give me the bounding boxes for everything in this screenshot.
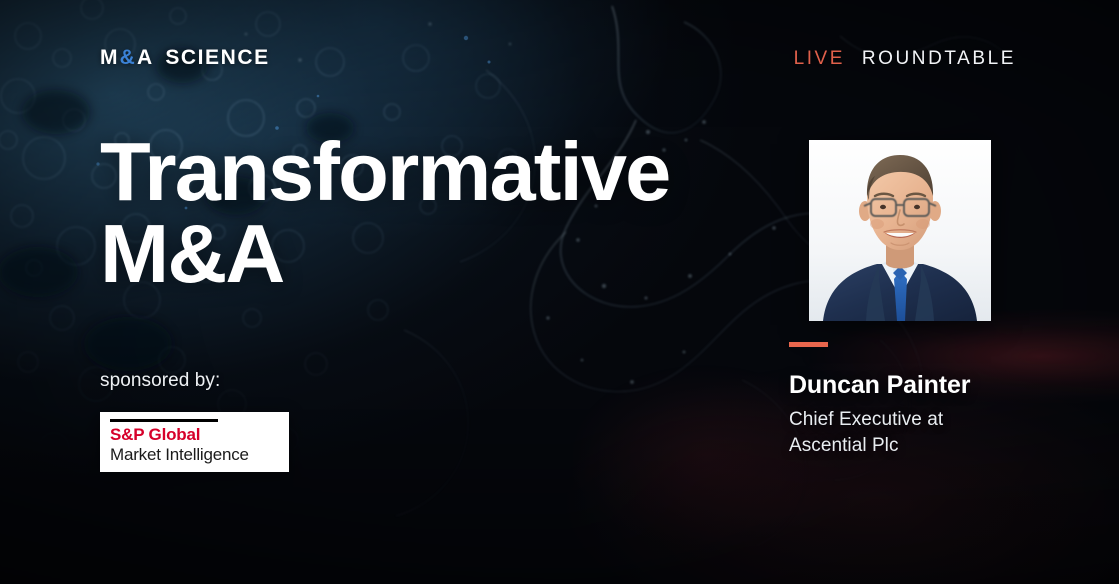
- speaker-accent-bar: [789, 342, 828, 347]
- speaker-title: Chief Executive at Ascential Plc: [789, 407, 1049, 458]
- headline-line-2: M&A: [100, 213, 720, 295]
- speaker-info: Duncan Painter Chief Executive at Ascent…: [789, 371, 1049, 458]
- speaker-title-line-2: Ascential Plc: [789, 433, 1049, 459]
- sponsor-logo-rule: [110, 419, 218, 422]
- speaker-headshot: [809, 140, 991, 321]
- headline-line-1: Transformative: [100, 131, 720, 213]
- sponsor-logo-primary-text: S&P Global: [110, 425, 279, 444]
- page-title: Transformative M&A: [100, 131, 720, 295]
- sponsor-block: sponsored by: S&P Global Market Intellig…: [100, 370, 289, 472]
- speaker-headshot-illustration: [809, 140, 991, 321]
- speaker-title-line-1: Chief Executive at: [789, 407, 1049, 433]
- brand-logo-word: SCIENCE: [165, 46, 269, 70]
- speaker-name: Duncan Painter: [789, 371, 1049, 399]
- brand-logo-m: M: [100, 46, 119, 70]
- brand-logo[interactable]: M & A SCIENCE: [100, 46, 270, 70]
- sponsor-label: sponsored by:: [100, 370, 289, 392]
- sponsor-logo[interactable]: S&P Global Market Intelligence: [100, 412, 289, 472]
- brand-logo-ampersand: &: [120, 46, 136, 70]
- brand-logo-a: A: [137, 46, 153, 70]
- live-badge: LIVE: [794, 48, 845, 69]
- promo-banner: M & A SCIENCE LIVE ROUNDTABLE Transforma…: [0, 0, 1119, 584]
- event-type-label: LIVE ROUNDTABLE: [794, 48, 1016, 70]
- sponsor-logo-secondary-text: Market Intelligence: [110, 445, 279, 465]
- event-type-text: ROUNDTABLE: [862, 48, 1016, 69]
